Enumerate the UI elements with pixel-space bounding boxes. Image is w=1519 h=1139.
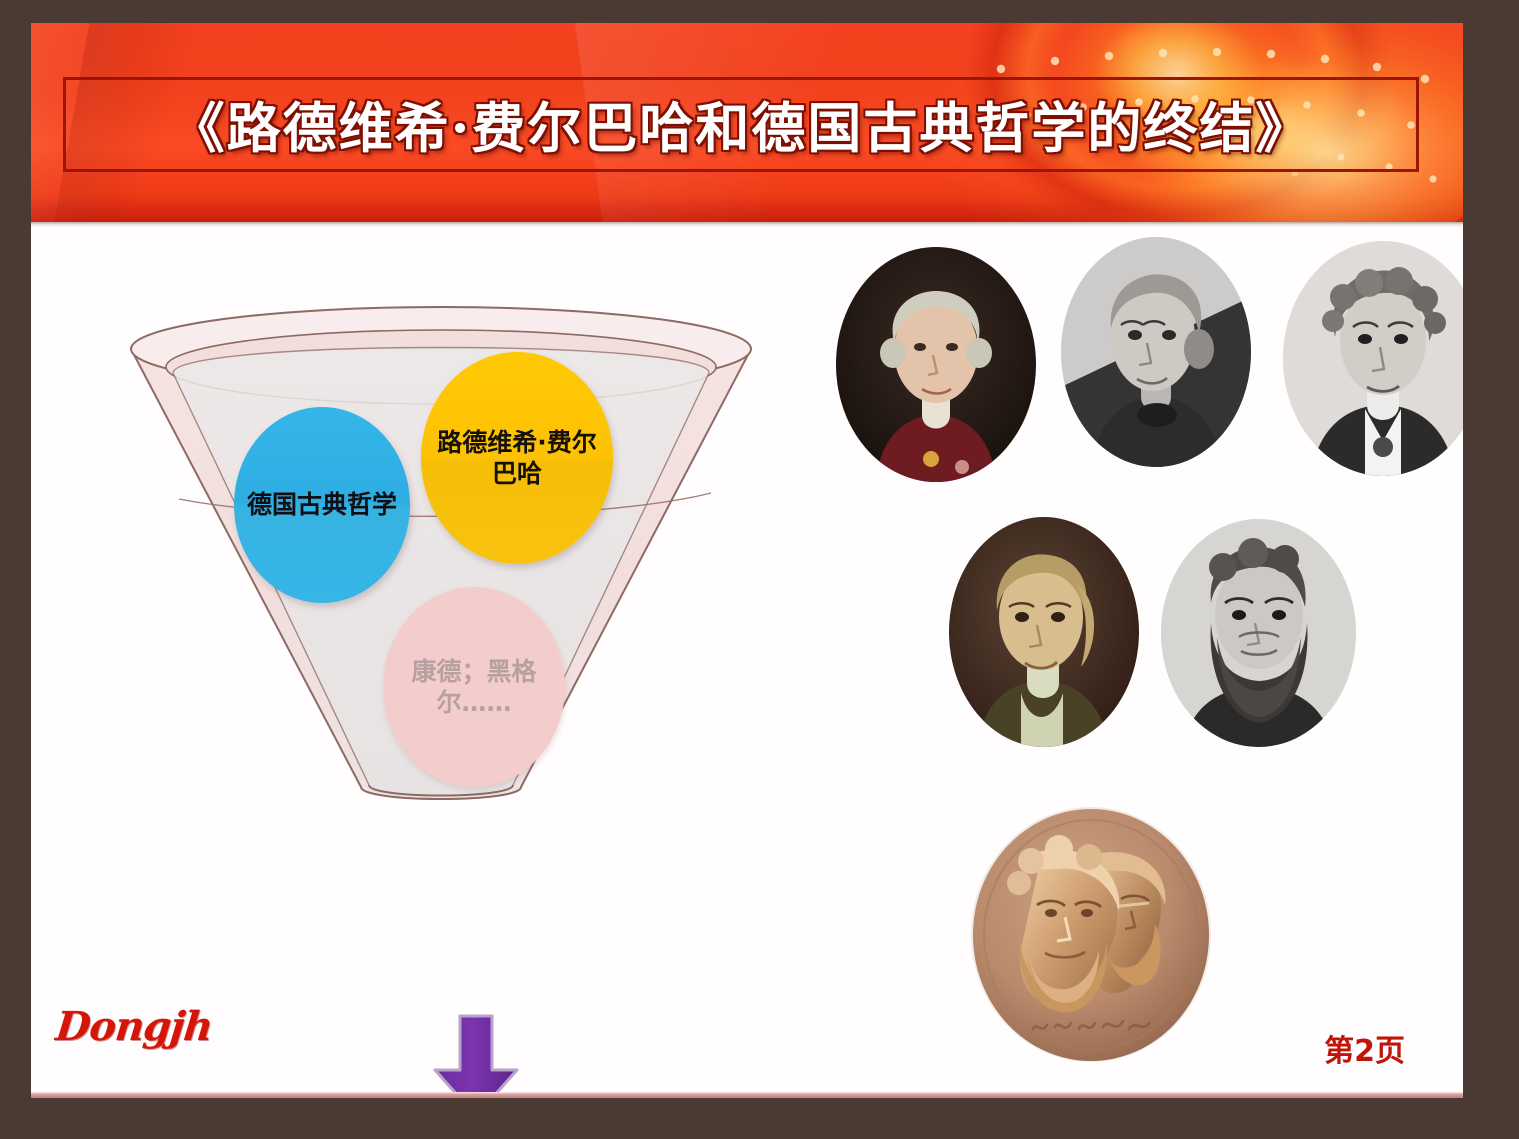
funnel-diagram: 德国古典哲学 路德维希·费尔巴哈 康德；黑格尔…… bbox=[121, 287, 761, 807]
portrait-feuerbach bbox=[1161, 519, 1356, 747]
page-number: 第2页 bbox=[1324, 1026, 1405, 1070]
marx-engels-medallion bbox=[971, 807, 1211, 1062]
title-frame: 《路德维希·费尔巴哈和德国古典哲学的终结》 bbox=[63, 77, 1419, 172]
bubble-ludwig-feuerbach[interactable]: 路德维希·费尔巴哈 bbox=[421, 352, 613, 564]
bubble-blue-label: 德国古典哲学 bbox=[237, 489, 407, 520]
portrait-hegel bbox=[949, 517, 1139, 747]
bubble-pink-label: 康德；黑格尔…… bbox=[383, 656, 565, 719]
page-title: 《路德维希·费尔巴哈和德国古典哲学的终结》 bbox=[66, 83, 1416, 162]
bubble-yellow-label: 路德维希·费尔巴哈 bbox=[421, 427, 613, 490]
slide-bottom-rule bbox=[31, 1092, 1463, 1098]
down-arrow-icon bbox=[416, 1012, 536, 1098]
portrait-fichte bbox=[1061, 237, 1251, 467]
brand-logo-dongjh: Dongjh bbox=[54, 1003, 215, 1050]
title-banner: 《路德维希·费尔巴哈和德国古典哲学的终结》 bbox=[31, 23, 1463, 222]
bubble-german-classical-philosophy[interactable]: 德国古典哲学 bbox=[234, 407, 410, 603]
slide-canvas: 《路德维希·费尔巴哈和德国古典哲学的终结》 bbox=[31, 23, 1463, 1098]
bubble-kant-hegel[interactable]: 康德；黑格尔…… bbox=[383, 587, 565, 787]
slide-outer-frame: 《路德维希·费尔巴哈和德国古典哲学的终结》 bbox=[0, 0, 1519, 1139]
portrait-schelling bbox=[1283, 241, 1463, 476]
portrait-kant bbox=[836, 247, 1036, 482]
slide-body: 德国古典哲学 路德维希·费尔巴哈 康德；黑格尔…… bbox=[31, 227, 1463, 1098]
